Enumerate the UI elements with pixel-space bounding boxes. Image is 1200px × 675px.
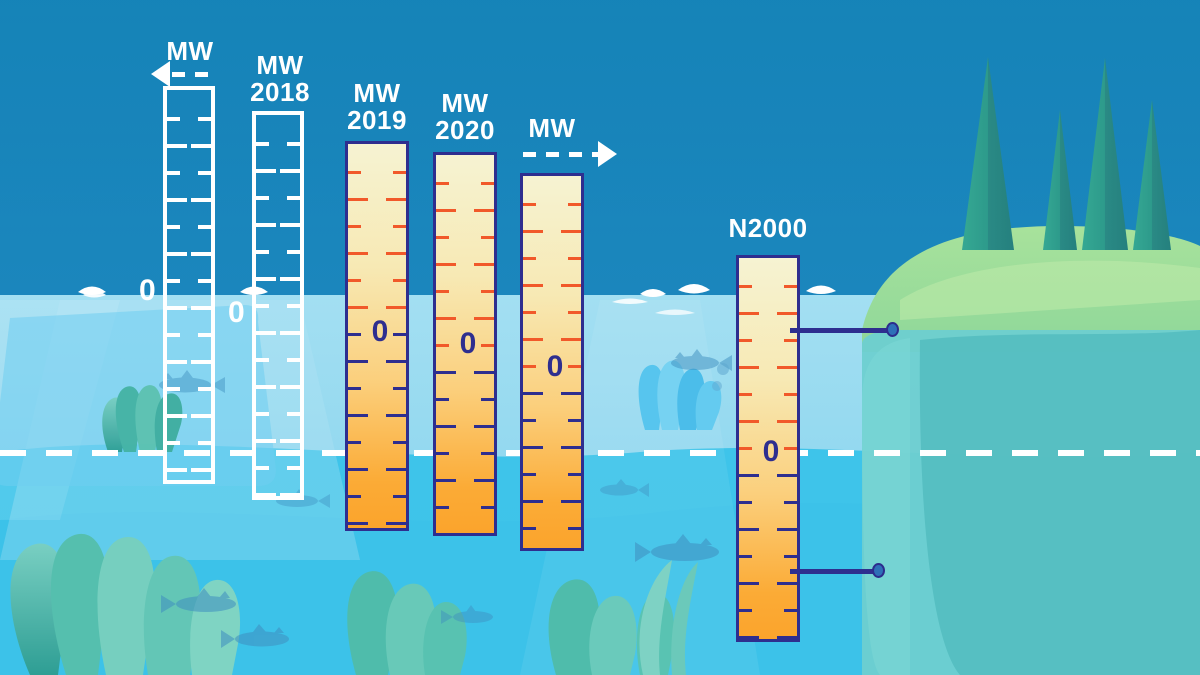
ruler-tick: [256, 223, 276, 227]
ruler-tick: [191, 360, 211, 364]
ruler-tick: [280, 331, 300, 335]
zero-marker: 0: [348, 317, 412, 347]
ruler-tick: [287, 196, 300, 200]
ruler-tick: [167, 225, 180, 229]
ruler-tick: [523, 392, 543, 395]
dashed-arrow-line: [172, 72, 215, 77]
ruler-tick: [386, 360, 406, 363]
ruler-tick: [167, 117, 180, 121]
ruler-tick: [191, 144, 211, 148]
ruler-tick: [167, 387, 180, 391]
ruler-tick: [348, 306, 368, 309]
ruler-tick: [777, 528, 797, 531]
ruler-tick: [198, 117, 211, 121]
ruler-tick: [393, 279, 406, 282]
ruler-tick: [256, 196, 269, 200]
ruler-tick: [348, 414, 368, 417]
ruler-tick: [777, 474, 797, 477]
ruler-tick: [739, 393, 752, 396]
ruler-tick: [568, 473, 581, 476]
ruler-tick: [393, 387, 406, 390]
zero-marker: 0: [523, 352, 587, 382]
ruler-tick: [256, 250, 269, 254]
ruler-tick: [167, 468, 187, 472]
ruler-tick: [167, 279, 180, 283]
ruler-tick: [436, 236, 449, 239]
ruler-tick: [777, 420, 797, 423]
ruler-tick: [739, 555, 752, 558]
ruler-edge-gap: [162, 190, 168, 422]
zero-marker: 0: [139, 276, 156, 306]
arrowhead-left: [151, 61, 170, 87]
ruler-tick: [348, 171, 361, 174]
ruler-tick: [256, 142, 269, 146]
ruler-tick: [348, 522, 368, 525]
ruler-tick: [568, 419, 581, 422]
ruler-tick: [481, 398, 494, 401]
ruler-tick: [386, 522, 406, 525]
ruler-tick: [561, 284, 581, 287]
ruler-tick: [280, 277, 300, 281]
ruler-tick: [739, 636, 759, 639]
ruler-tick: [436, 425, 456, 428]
ruler-tick: [198, 279, 211, 283]
ruler-tick: [393, 225, 406, 228]
ruler-tick: [348, 441, 361, 444]
ruler-tick: [256, 277, 276, 281]
ruler-tick: [287, 412, 300, 416]
ruler-tick: [287, 304, 300, 308]
ruler-tick: [191, 306, 211, 310]
ruler-tick: [777, 582, 797, 585]
ruler-tick: [167, 306, 187, 310]
ruler-tick: [777, 636, 797, 639]
ruler-tick: [280, 493, 300, 497]
rulers-layer: 000000: [0, 0, 1200, 675]
ruler-tick: [777, 312, 797, 315]
ruler-tick: [167, 441, 180, 445]
ruler-tick: [167, 333, 180, 337]
arrowhead-right: [598, 141, 617, 167]
ruler-tick: [287, 358, 300, 362]
ruler-tick: [739, 366, 759, 369]
ruler-tick: [523, 284, 543, 287]
ruler-tick: [256, 466, 269, 470]
ruler-tick: [256, 304, 269, 308]
ruler-tick: [784, 339, 797, 342]
ruler-tick: [436, 317, 456, 320]
ruler-tick: [481, 506, 494, 509]
ruler-tick: [348, 387, 361, 390]
ruler-tick: [561, 230, 581, 233]
ruler-tick: [739, 528, 759, 531]
ruler-tick: [167, 171, 180, 175]
ruler-tick: [474, 425, 494, 428]
ruler-tick: [436, 263, 456, 266]
ruler-tick: [256, 358, 269, 362]
ruler-tick: [474, 263, 494, 266]
ruler-tick: [386, 414, 406, 417]
ruler-tick: [523, 446, 543, 449]
ruler-tick: [198, 441, 211, 445]
ruler-tick: [287, 250, 300, 254]
ruler-mw-2018[interactable]: 0: [252, 111, 304, 500]
ruler-tick: [523, 257, 536, 260]
ruler-tick: [436, 182, 449, 185]
ruler-tick: [348, 360, 368, 363]
ruler-tick: [167, 144, 187, 148]
ruler-tick: [280, 385, 300, 389]
ruler-mw-2020[interactable]: 0: [433, 152, 497, 536]
zero-marker: 0: [739, 437, 803, 467]
ruler-tick: [474, 317, 494, 320]
ruler-tick: [191, 414, 211, 418]
ruler-tick: [436, 371, 456, 374]
ruler-tick: [481, 182, 494, 185]
ruler-tick: [523, 338, 543, 341]
ruler-mw-2019[interactable]: 0: [345, 141, 409, 531]
ruler-tick: [739, 285, 752, 288]
ruler-tick: [523, 311, 536, 314]
connector-lower-dot[interactable]: [872, 563, 885, 578]
ruler-tick: [191, 198, 211, 202]
ruler-tick: [256, 439, 276, 443]
ruler-tick: [167, 252, 187, 256]
ruler-tick: [256, 331, 276, 335]
ruler-tick: [280, 439, 300, 443]
ruler-tick: [436, 290, 449, 293]
ruler-tick: [481, 452, 494, 455]
ruler-tick: [784, 501, 797, 504]
ruler-tick: [784, 393, 797, 396]
ruler-tick: [436, 452, 449, 455]
zero-marker: 0: [228, 298, 245, 328]
ruler-tick: [474, 209, 494, 212]
ruler-tick: [436, 398, 449, 401]
connector-lower: [790, 569, 878, 574]
ruler-tick: [348, 198, 368, 201]
connector-upper-dot[interactable]: [886, 322, 899, 337]
ruler-tick: [436, 479, 456, 482]
ruler-tick: [777, 366, 797, 369]
ruler-tick: [474, 479, 494, 482]
ruler-tick: [523, 230, 543, 233]
ruler-tick: [568, 257, 581, 260]
ruler-tick: [739, 312, 759, 315]
ruler-tick: [386, 306, 406, 309]
ruler-tick: [784, 285, 797, 288]
ruler-tick: [561, 338, 581, 341]
ruler-tick: [256, 493, 276, 497]
ruler-n2000[interactable]: 0: [736, 255, 800, 642]
ruler-tick: [523, 527, 536, 530]
ruler-tick: [198, 333, 211, 337]
ruler-tick: [523, 419, 536, 422]
ruler-tick: [739, 609, 752, 612]
ruler-tick: [287, 466, 300, 470]
ruler-tick: [198, 171, 211, 175]
ruler-tick: [167, 360, 187, 364]
infographic-canvas: 000000 MW MW 2018 MW 2019 MW 2020 MW N20…: [0, 0, 1200, 675]
ruler-tick: [393, 441, 406, 444]
ruler-tick: [348, 225, 361, 228]
ruler-tick: [523, 203, 536, 206]
ruler-tick: [784, 609, 797, 612]
ruler-mw-left[interactable]: 0: [163, 86, 215, 484]
ruler-tick: [198, 387, 211, 391]
ruler-tick: [474, 371, 494, 374]
ruler-tick: [523, 500, 543, 503]
ruler-tick: [287, 142, 300, 146]
ruler-tick: [436, 209, 456, 212]
ruler-tick: [523, 473, 536, 476]
ruler-tick: [393, 495, 406, 498]
ruler-tick: [481, 236, 494, 239]
ruler-tick: [167, 414, 187, 418]
ruler-tick: [386, 198, 406, 201]
ruler-tick: [784, 555, 797, 558]
ruler-tick: [348, 252, 368, 255]
connector-upper: [790, 328, 890, 333]
ruler-tick: [739, 339, 752, 342]
ruler-tick: [386, 252, 406, 255]
ruler-tick: [436, 506, 449, 509]
ruler-tick: [256, 169, 276, 173]
ruler-tick: [739, 582, 759, 585]
ruler-tick: [561, 500, 581, 503]
ruler-tick: [348, 495, 361, 498]
ruler-tick: [568, 311, 581, 314]
ruler-tick: [561, 446, 581, 449]
ruler-tick: [568, 527, 581, 530]
ruler-tick: [568, 203, 581, 206]
ruler-tick: [739, 474, 759, 477]
ruler-tick: [348, 279, 361, 282]
ruler-tick: [191, 468, 211, 472]
ruler-tick: [280, 223, 300, 227]
ruler-mw-right[interactable]: 0: [520, 173, 584, 551]
ruler-tick: [393, 171, 406, 174]
ruler-tick: [256, 385, 276, 389]
ruler-tick: [348, 468, 368, 471]
ruler-tick: [191, 252, 211, 256]
ruler-tick: [481, 290, 494, 293]
zero-marker: 0: [436, 329, 500, 359]
ruler-tick: [256, 412, 269, 416]
ruler-tick: [386, 468, 406, 471]
ruler-tick: [167, 198, 187, 202]
ruler-tick: [739, 420, 759, 423]
ruler-tick: [739, 501, 752, 504]
ruler-tick: [198, 225, 211, 229]
dashed-arrow-line: [523, 152, 598, 157]
ruler-tick: [561, 392, 581, 395]
ruler-tick: [280, 169, 300, 173]
